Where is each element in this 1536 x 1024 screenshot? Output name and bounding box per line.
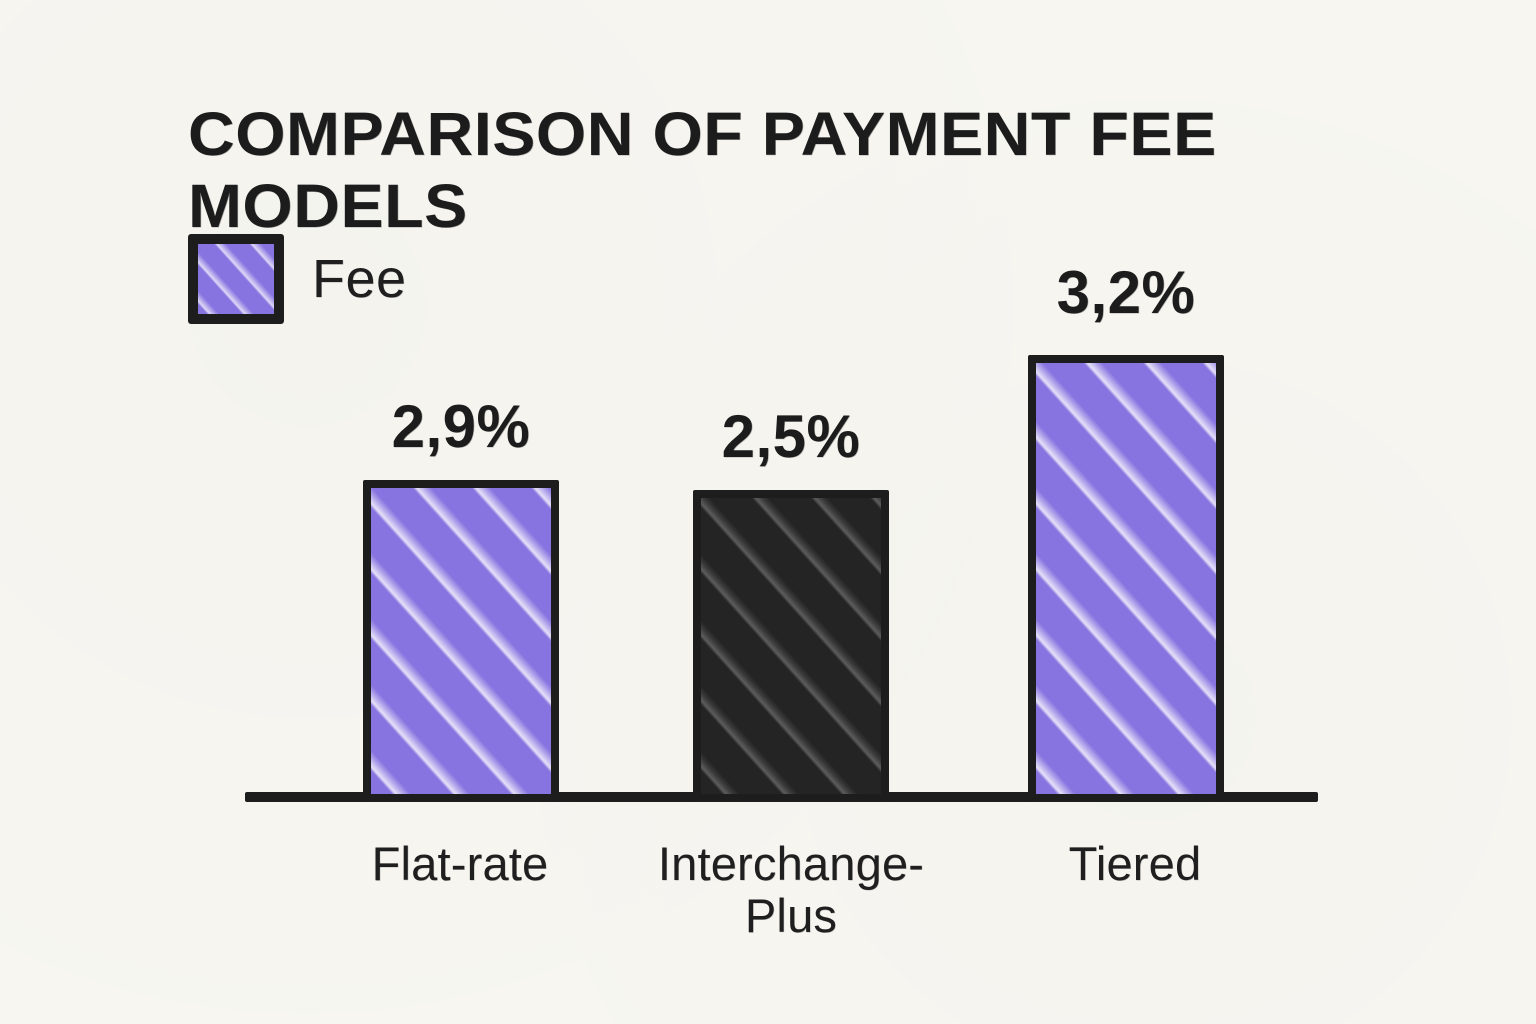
- bar-interchange-plus[interactable]: [693, 490, 889, 802]
- value-label-interchange-plus: 2,5%: [691, 406, 891, 468]
- category-label-tiered: Tiered: [1030, 838, 1240, 890]
- hatch-pattern-icon: [1028, 355, 1224, 802]
- plot-area: 2,9% Flat-rate 2,5% Interchange-Plus 3,2…: [0, 0, 1536, 1024]
- hatch-pattern-icon: [693, 490, 889, 802]
- value-label-tiered: 3,2%: [1026, 262, 1226, 324]
- bar-flat-rate[interactable]: [363, 480, 559, 802]
- category-label-flat-rate: Flat-rate: [335, 838, 585, 890]
- category-label-interchange-plus: Interchange-Plus: [636, 838, 946, 942]
- chart-canvas: COMPARISON OF PAYMENT FEE MODELS Fee 2,9…: [0, 0, 1536, 1024]
- hatch-pattern-icon: [363, 480, 559, 802]
- value-label-flat-rate: 2,9%: [361, 396, 561, 458]
- bar-tiered[interactable]: [1028, 355, 1224, 802]
